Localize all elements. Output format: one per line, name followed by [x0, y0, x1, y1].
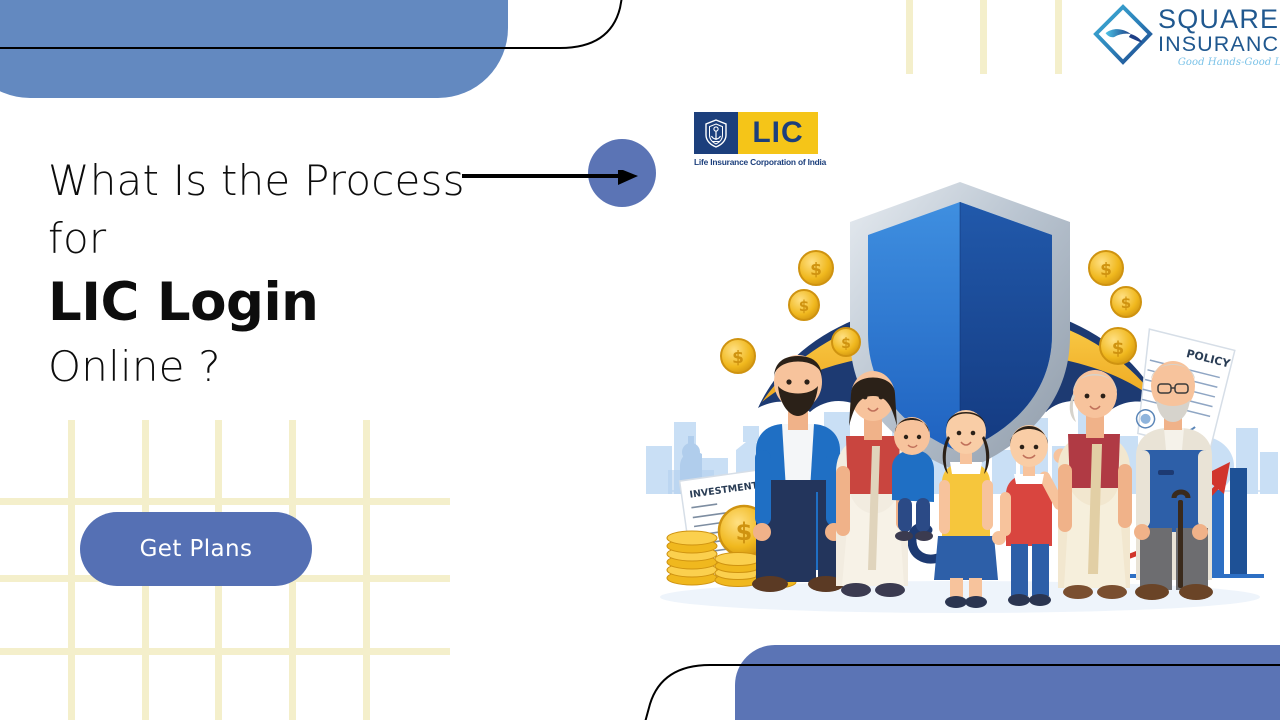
grid-line-vertical: [68, 420, 75, 720]
svg-text:$: $: [736, 518, 753, 546]
svg-text:$: $: [841, 336, 851, 352]
square-diamond-bird-logo-icon: [1092, 4, 1154, 66]
brand-logo[interactable]: ® SQUARE INSURANCE Good Hands-Good Life: [1092, 4, 1280, 84]
background-lines-top-right: [900, 0, 1070, 74]
brand-name-line1: SQUARE: [1158, 6, 1280, 32]
headline-line-2: for: [48, 210, 468, 268]
svg-text:$: $: [1121, 294, 1131, 312]
headline-line-1: What Is the Process: [48, 152, 468, 210]
headline-emphasis: LIC Login: [48, 268, 468, 338]
lic-emblem-box: [694, 112, 738, 154]
get-plans-button[interactable]: Get Plans: [80, 512, 312, 586]
grid-line-vertical: [906, 0, 913, 74]
grid-line-vertical: [1055, 0, 1062, 74]
brand-tagline: Good Hands-Good Life: [1158, 56, 1280, 70]
svg-text:$: $: [810, 260, 822, 280]
svg-text:$: $: [1112, 338, 1125, 359]
decor-shape-bottom-right: [735, 645, 1280, 720]
lic-word-box: LIC: [738, 112, 818, 154]
grid-line-vertical: [980, 0, 987, 74]
headline-line-3: Online ?: [48, 338, 468, 396]
page-title: What Is the Process for LIC Login Online…: [48, 152, 468, 396]
lic-emblem-icon: [702, 118, 730, 148]
family-protection-insurance-illustration: $ $ $ $ $ $ $ INVESTMENT: [640, 150, 1280, 620]
slide-canvas: ® SQUARE INSURANCE Good Hands-Good Life …: [0, 0, 1280, 720]
grid-line-horizontal: [0, 648, 450, 655]
svg-text:$: $: [799, 297, 809, 315]
brand-wordmark: ® SQUARE INSURANCE Good Hands-Good Life: [1158, 4, 1280, 70]
decor-shape-top-left: [0, 0, 508, 98]
brand-name-line2: INSURANCE: [1158, 32, 1280, 56]
grid-line-horizontal: [0, 498, 450, 505]
grid-line-vertical: [363, 420, 370, 720]
svg-text:$: $: [1100, 260, 1112, 280]
lic-word: LIC: [752, 118, 803, 148]
family-member-baby: [892, 417, 934, 541]
svg-text:$: $: [732, 348, 744, 368]
